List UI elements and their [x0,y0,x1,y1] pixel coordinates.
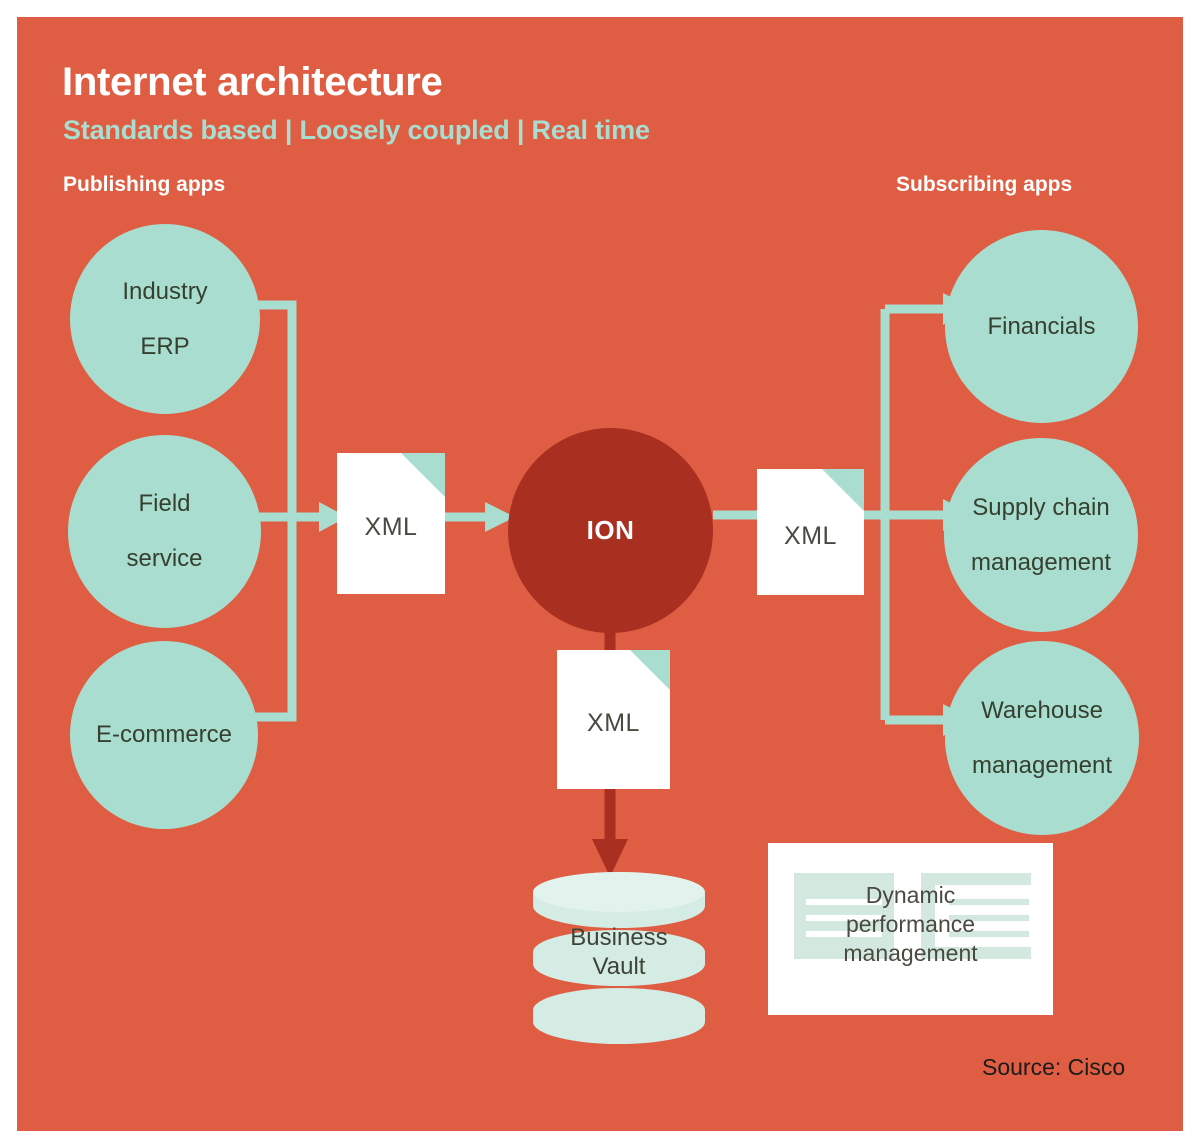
publishing-apps-heading: Publishing apps [63,173,225,197]
node-label-line2: ERP [116,333,213,361]
vault-label-line1: Business [570,924,667,951]
page-subtitle: Standards based | Loosely coupled | Real… [63,115,650,146]
node-field-service[interactable]: Fieldservice [68,435,261,628]
node-business-vault-label: Business Vault [533,924,705,982]
diagram-canvas: Internet architecture Standards based | … [17,17,1183,1131]
subscribing-apps-heading: Subscribing apps [896,173,1072,197]
node-ecommerce-label: E-commerce [90,721,238,749]
xml-document-inbound-label: XML [365,513,418,542]
node-label-line1: Field [120,490,208,518]
node-business-vault[interactable]: Business Vault [533,872,705,1044]
diagram-figure: Internet architecture Standards based | … [0,0,1200,1147]
panel-label-line2: performance [846,911,975,937]
node-warehouse-management[interactable]: Warehousemanagement [945,641,1139,835]
page-title: Internet architecture [62,60,442,105]
node-ion-label: ION [587,515,635,546]
xml-document-archive-label: XML [587,709,640,738]
node-industry-erp[interactable]: IndustryERP [70,224,260,414]
page-fold-icon [630,650,670,690]
xml-document-outbound-label: XML [784,522,837,551]
xml-document-inbound[interactable]: XML [337,453,445,594]
dynamic-performance-management-label: Dynamic performance management [768,881,1053,967]
node-financials[interactable]: Financials [945,230,1138,423]
node-ecommerce[interactable]: E-commerce [70,641,258,829]
node-ion-hub[interactable]: ION [508,428,713,633]
node-warehouse-label: Warehousemanagement [960,697,1124,780]
node-industry-erp-label: IndustryERP [110,278,219,361]
node-financials-label: Financials [981,313,1101,341]
xml-document-archive[interactable]: XML [557,650,670,789]
node-label-line1: Supply chain [965,494,1117,522]
node-label-line2: service [120,545,208,573]
node-label-line1: Warehouse [966,697,1118,725]
database-cylinder-top-icon [533,872,705,912]
page-fold-icon [822,469,864,511]
dynamic-performance-management-panel[interactable]: Dynamic performance management [768,843,1053,1015]
xml-document-outbound[interactable]: XML [757,469,864,595]
panel-label-line1: Dynamic [866,882,955,908]
node-label-line2: management [966,752,1118,780]
node-supply-chain-label: Supply chainmanagement [959,494,1123,577]
vault-label-line2: Vault [593,953,646,980]
node-label-line2: management [965,549,1117,577]
node-supply-chain-management[interactable]: Supply chainmanagement [944,438,1138,632]
database-cylinder-icon [533,988,705,1044]
page-fold-icon [401,453,445,497]
source-credit: Source: Cisco [982,1054,1125,1081]
node-field-service-label: Fieldservice [114,490,214,573]
panel-label-line3: management [843,940,977,966]
node-label-line1: Industry [116,278,213,306]
